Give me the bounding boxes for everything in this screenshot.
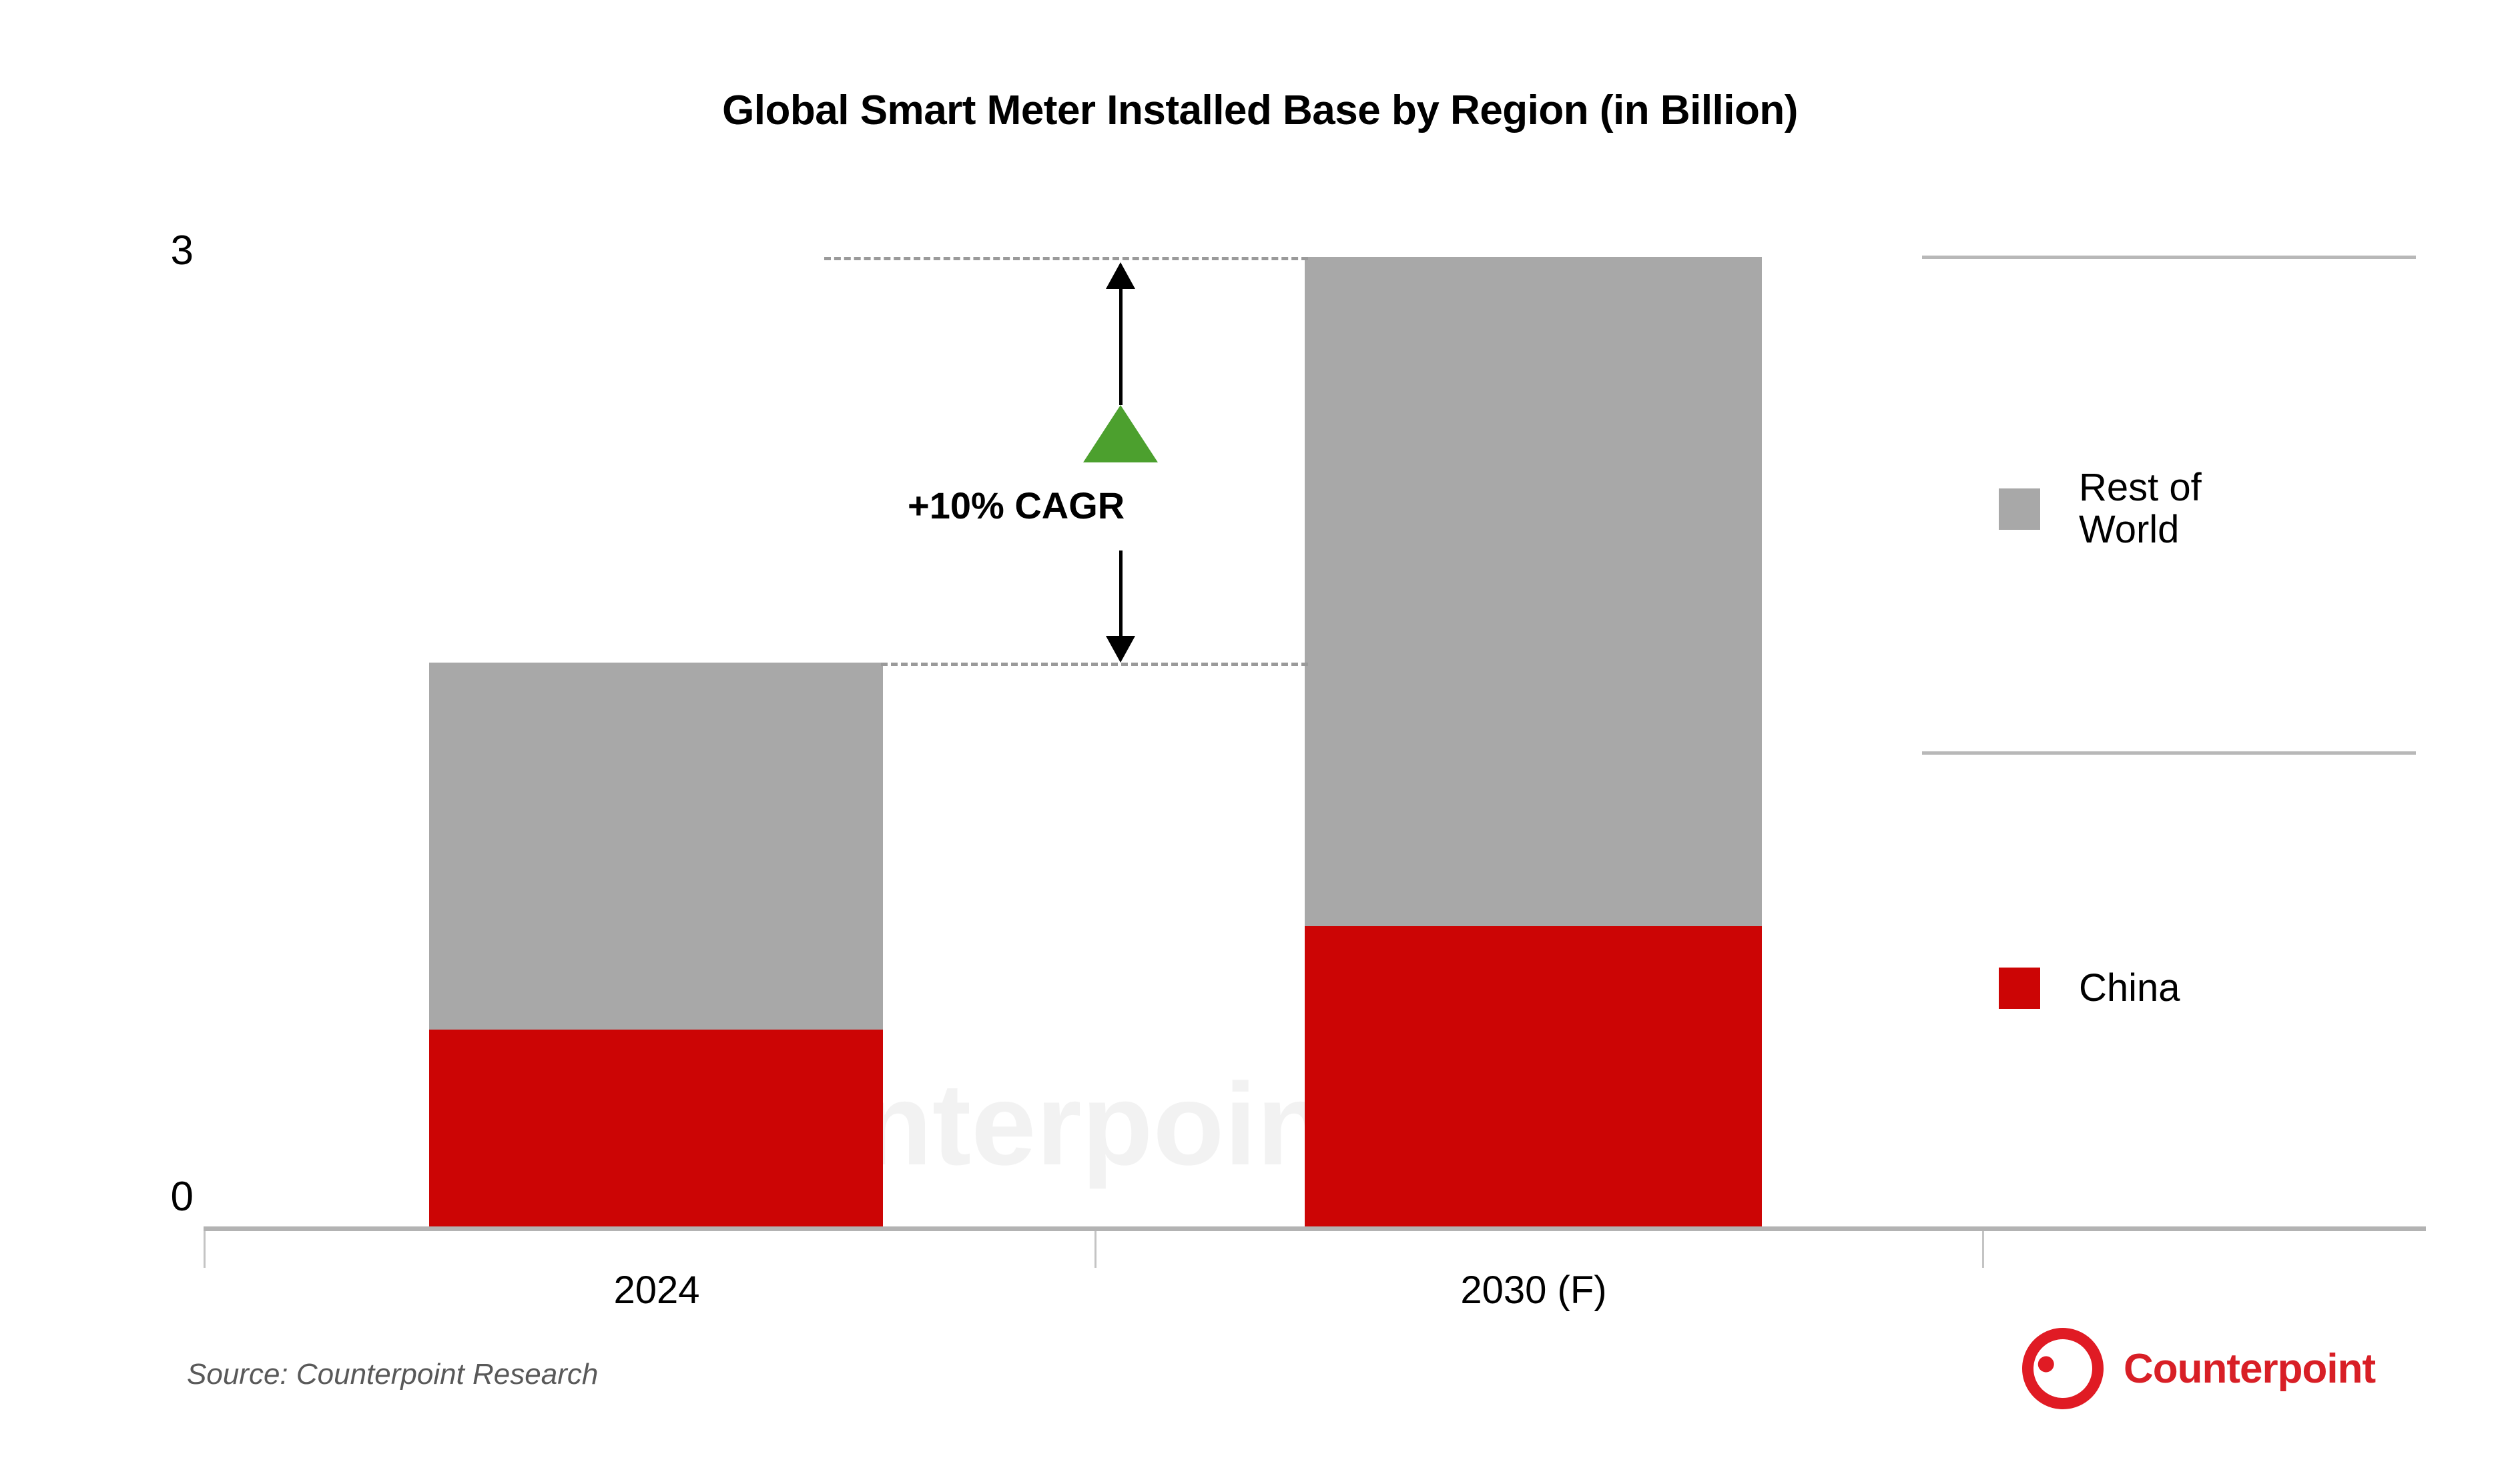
plot-area: Counterpoint +10% CAGR bbox=[204, 257, 2005, 1228]
chart-container: Global Smart Meter Installed Base by Reg… bbox=[0, 0, 2520, 1474]
cagr-label: +10% CAGR bbox=[908, 484, 1125, 527]
legend-label-rest-of-world: Rest of World bbox=[2079, 467, 2202, 550]
green-up-triangle-icon bbox=[1083, 405, 1158, 462]
x-axis-line bbox=[204, 1226, 2426, 1231]
cagr-arrow-line-upper bbox=[1119, 286, 1123, 405]
cagr-arrow-head-up bbox=[1106, 262, 1135, 289]
counterpoint-mark-icon bbox=[2011, 1317, 2114, 1420]
legend-label-line2: World bbox=[2079, 508, 2179, 551]
brand-name: Counterpoint bbox=[2124, 1345, 2375, 1393]
gray-swatch-icon bbox=[1999, 488, 2040, 530]
cagr-arrow-line-lower bbox=[1119, 550, 1123, 637]
x-axis-tick bbox=[1982, 1231, 1984, 1268]
x-axis-tick bbox=[204, 1231, 206, 1268]
cagr-annotation: +10% CAGR bbox=[204, 257, 2005, 1228]
y-axis-label-max: 3 bbox=[113, 227, 194, 274]
counterpoint-logo: Counterpoint bbox=[2022, 1328, 2375, 1409]
chart-title: Global Smart Meter Installed Base by Reg… bbox=[0, 87, 2520, 134]
legend-item-china[interactable]: China bbox=[1999, 968, 2180, 1010]
red-swatch-icon bbox=[1999, 968, 2040, 1009]
x-axis-tick bbox=[1094, 1231, 1096, 1268]
x-axis-label-2030: 2030 (F) bbox=[1300, 1268, 1767, 1313]
legend-divider-top bbox=[1922, 256, 2416, 259]
legend-item-rest-of-world[interactable]: Rest of World bbox=[1999, 467, 2202, 550]
legend-label-china: China bbox=[2079, 968, 2180, 1010]
cagr-arrow-head-down bbox=[1106, 636, 1135, 663]
y-axis-label-min: 0 bbox=[113, 1173, 194, 1220]
x-axis-label-2024: 2024 bbox=[423, 1268, 890, 1313]
legend-divider-middle bbox=[1922, 751, 2416, 755]
source-note: Source: Counterpoint Research bbox=[187, 1358, 598, 1391]
legend-label-line1: Rest of bbox=[2079, 466, 2202, 509]
